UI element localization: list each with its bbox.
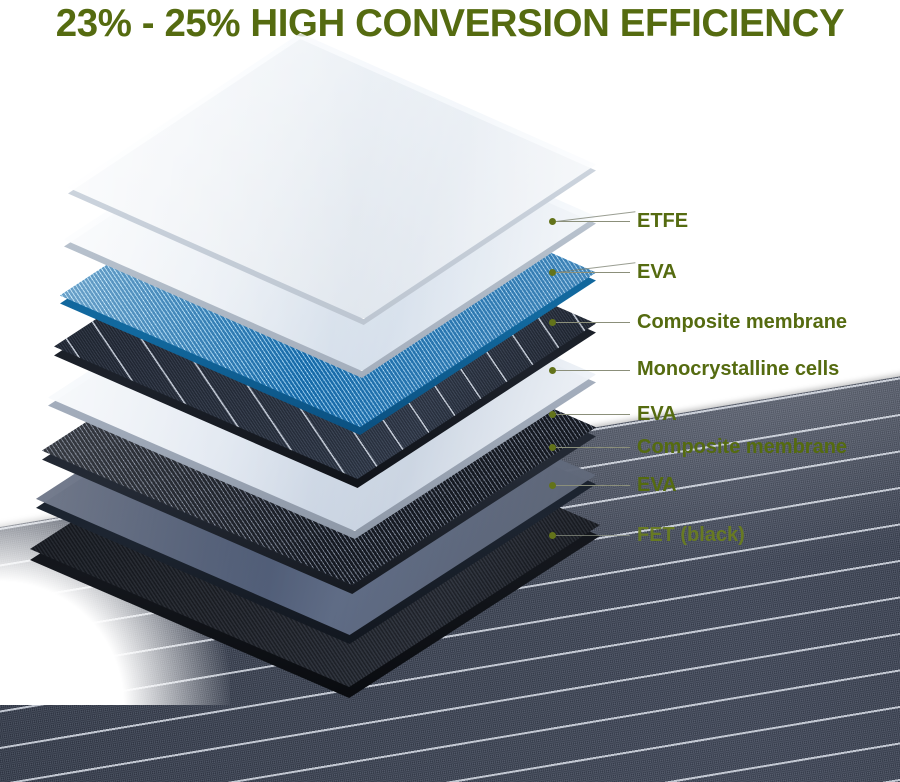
callout-group: ETFE EVA Composite membrane Monocrystall… [0, 55, 900, 782]
callout-dot-eva-middle[interactable] [549, 411, 556, 418]
callout-line-eva-middle [556, 414, 630, 415]
callout-line-fet-black [556, 535, 630, 536]
callout-label-eva-top: EVA [637, 262, 677, 282]
infographic-canvas: 23% - 25% HIGH CONVERSION EFFICIENCY [0, 0, 900, 782]
callout-dot-fet-black[interactable] [549, 532, 556, 539]
callout-label-etfe: ETFE [637, 211, 688, 231]
callout-line-composite-top [556, 322, 630, 323]
callout-dot-composite-bottom[interactable] [549, 444, 556, 451]
callout-dot-eva-top[interactable] [549, 269, 556, 276]
callout-line-eva-top [556, 272, 630, 273]
callout-line-monocrystalline [556, 370, 630, 371]
callout-dot-etfe[interactable] [549, 218, 556, 225]
callout-dot-composite-top[interactable] [549, 319, 556, 326]
exploded-diagram: ETFE EVA Composite membrane Monocrystall… [0, 55, 900, 782]
callout-label-monocrystalline: Monocrystalline cells [637, 359, 839, 379]
callout-dot-monocrystalline[interactable] [549, 367, 556, 374]
callout-line-eva-bottom [556, 485, 630, 486]
callout-label-composite-top: Composite membrane [637, 312, 847, 332]
callout-line-etfe [556, 221, 630, 222]
callout-line-composite-bottom [556, 447, 630, 448]
callout-dot-eva-bottom[interactable] [549, 482, 556, 489]
callout-label-fet-black: FET (black) [637, 525, 745, 545]
callout-label-eva-bottom: EVA [637, 475, 677, 495]
callout-label-eva-middle: EVA [637, 404, 677, 424]
callout-label-composite-bottom: Composite membrane [637, 437, 847, 457]
